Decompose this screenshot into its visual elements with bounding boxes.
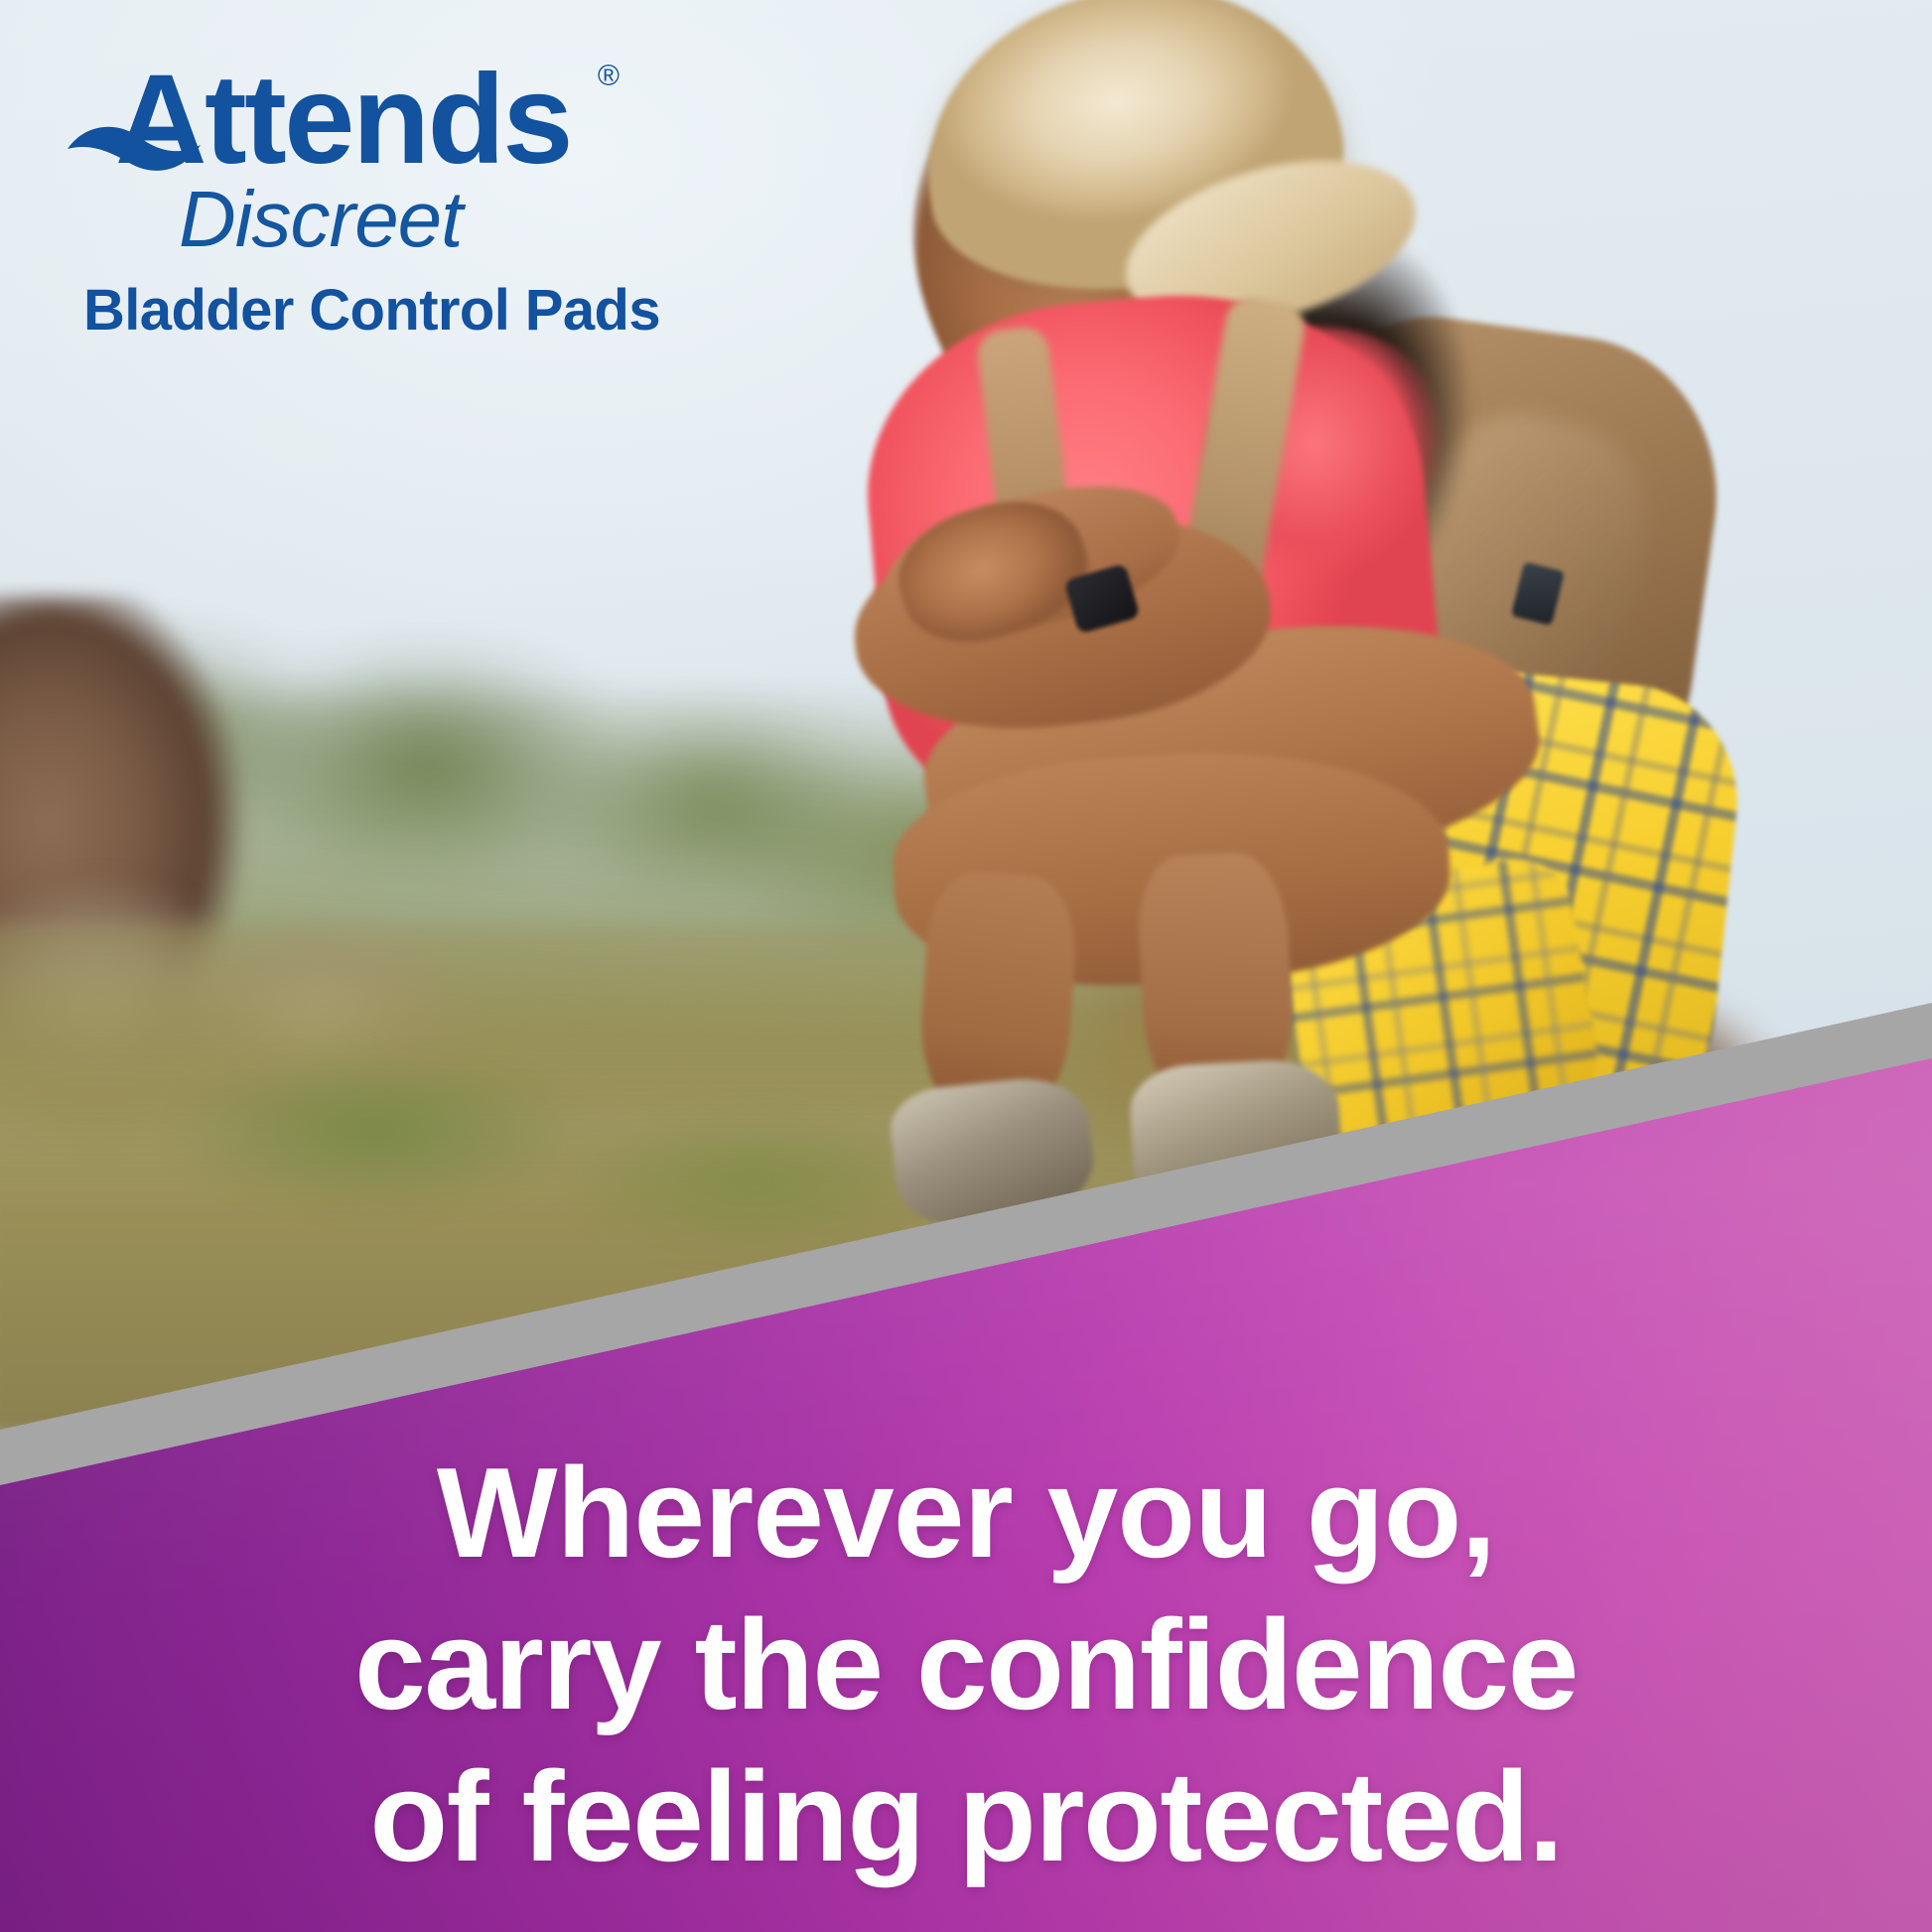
- headline-line-2: carry the confidence: [0, 1589, 1932, 1741]
- headline-line-1: Wherever you go,: [0, 1438, 1932, 1589]
- brand-wordmark: Attends ®: [71, 56, 806, 186]
- brand-name-text: Attends: [115, 49, 571, 191]
- headline: Wherever you go, carry the confidence of…: [0, 1438, 1932, 1893]
- advertisement-canvas: Wherever you go, carry the confidence of…: [0, 0, 1932, 1932]
- headline-line-3: of feeling protected.: [0, 1741, 1932, 1893]
- brand-logo: Attends ® Discreet Bladder Control Pads: [71, 56, 806, 342]
- registered-trademark-icon: ®: [598, 62, 620, 91]
- product-line-text: Bladder Control Pads: [71, 279, 806, 343]
